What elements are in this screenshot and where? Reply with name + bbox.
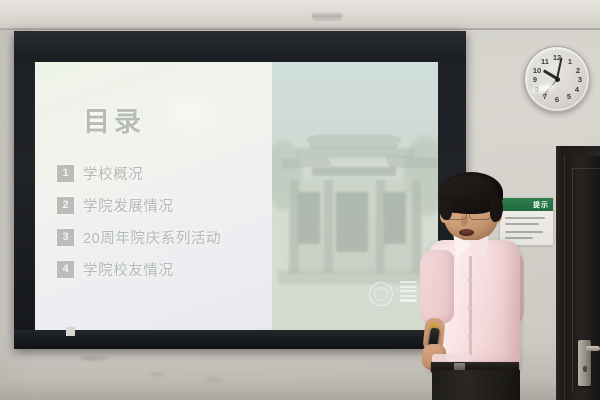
nose <box>461 215 468 226</box>
presenter <box>414 172 534 400</box>
screen-bottom-weight-bar <box>14 330 466 349</box>
toc-item-label: 学院校友情况 <box>83 259 174 280</box>
door-keyhole-icon <box>583 366 587 372</box>
mouth <box>459 229 474 236</box>
wall-clock: 12 1 2 3 4 5 6 7 8 9 10 11 <box>524 46 590 112</box>
toc-item-label: 学院发展情况 <box>83 195 174 216</box>
lecture-room-photo: 目录 1 学校概况 2 学院发展情况 3 20周年院庆系列活动 4 学院校友情况 <box>0 0 600 400</box>
clock-number-6: 6 <box>552 95 562 105</box>
projected-slide: 目录 1 学校概况 2 学院发展情况 3 20周年院庆系列活动 4 学院校友情况 <box>35 62 438 330</box>
toc-item-label: 20周年院庆系列活动 <box>83 227 221 248</box>
slide-toc-list: 1 学校概况 2 学院发展情况 3 20周年院庆系列活动 4 学院校友情况 <box>57 157 272 285</box>
toc-item-number: 2 <box>57 197 74 214</box>
toc-item-number: 4 <box>57 261 74 278</box>
hair-sideburn-left <box>439 196 452 220</box>
sign-header-text: 提示 <box>533 200 549 210</box>
clock-number-5: 5 <box>564 92 574 102</box>
toc-item: 2 学院发展情况 <box>57 189 272 221</box>
clock-number-9: 9 <box>530 75 540 85</box>
clock-number-10: 10 <box>532 66 542 76</box>
clock-center-pin <box>555 77 560 82</box>
shirt-button <box>468 306 472 310</box>
slide-title: 目录 <box>83 100 145 139</box>
screen-corner-tab <box>66 327 75 336</box>
toc-item-number: 1 <box>57 165 74 182</box>
toc-item: 1 学校概况 <box>57 157 272 189</box>
clock-number-11: 11 <box>540 57 550 67</box>
toc-item-label: 学校概况 <box>83 163 143 184</box>
university-seal-icon <box>369 282 393 306</box>
shirt-placket <box>469 256 472 368</box>
shirt-sleeve-left <box>420 250 454 324</box>
trousers <box>432 370 520 400</box>
door-handle[interactable] <box>586 346 600 351</box>
screen-top-casing <box>14 31 466 61</box>
toc-item-number: 3 <box>57 229 74 246</box>
ceiling-fixture <box>312 12 342 19</box>
shirt-button <box>468 334 472 338</box>
toc-item: 3 20周年院庆系列活动 <box>57 221 272 253</box>
ceiling <box>0 0 600 30</box>
clock-number-3: 3 <box>575 75 585 85</box>
toc-item: 4 学院校友情况 <box>57 253 272 285</box>
clock-face: 12 1 2 3 4 5 6 7 8 9 10 11 <box>529 51 585 107</box>
shirt-button <box>468 278 472 282</box>
